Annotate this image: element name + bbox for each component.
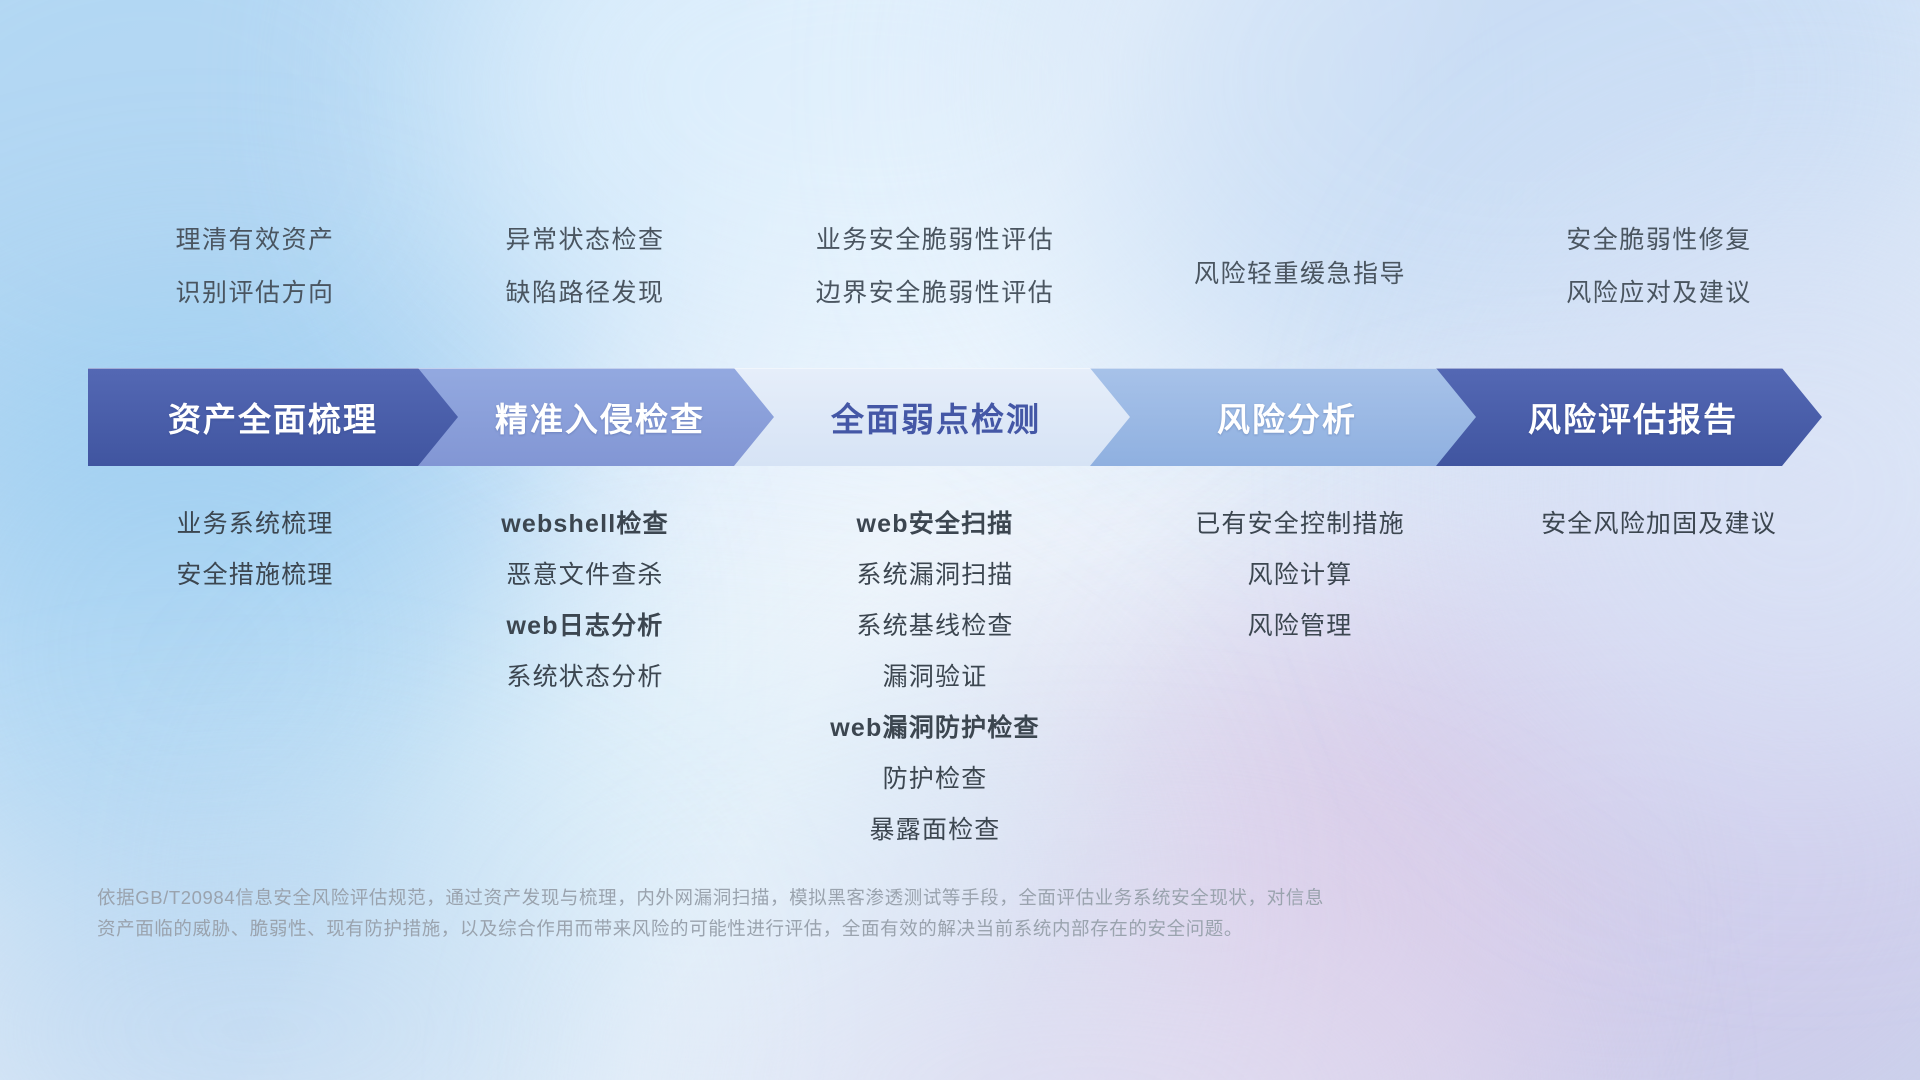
footer-line: 依据GB/T20984信息安全风险评估规范，通过资产发现与梳理，内外网漏洞扫描，… bbox=[97, 882, 1577, 913]
top-label: 识别评估方向 bbox=[175, 281, 334, 306]
bottom-list-item: 系统基线检查 bbox=[856, 614, 1013, 639]
chevron-label: 风险评估报告 bbox=[1528, 393, 1738, 441]
chevron-stage-1[interactable]: 资产全面梳理 bbox=[88, 368, 458, 466]
chevron-label: 全面弱点检测 bbox=[831, 393, 1041, 441]
bottom-list-item: webshell检查 bbox=[501, 512, 669, 537]
chevron-label: 资产全面梳理 bbox=[168, 393, 378, 441]
bottom-list-item: 系统状态分析 bbox=[506, 665, 663, 690]
top-labels-stage-3: 业务安全脆弱性评估 边界安全脆弱性评估 bbox=[750, 228, 1120, 334]
top-labels-stage-1: 理清有效资产 识别评估方向 bbox=[90, 228, 420, 334]
top-label: 风险轻重缓急指导 bbox=[1194, 262, 1406, 287]
top-labels-stage-5: 安全脆弱性修复 风险应对及建议 bbox=[1480, 228, 1838, 334]
bottom-list-item: 安全风险加固及建议 bbox=[1541, 512, 1777, 537]
bottom-list-item: 恶意文件查杀 bbox=[506, 563, 663, 588]
chevron-label: 精准入侵检查 bbox=[495, 393, 705, 441]
bottom-list-item: 业务系统梳理 bbox=[176, 512, 333, 537]
bottom-list-item: 漏洞验证 bbox=[883, 665, 988, 690]
bottom-list-item: web日志分析 bbox=[506, 614, 663, 639]
chevron-stage-3[interactable]: 全面弱点检测 bbox=[720, 368, 1130, 466]
bottom-list-item: 风险计算 bbox=[1248, 563, 1353, 588]
bottom-list-item: 暴露面检查 bbox=[869, 818, 1000, 843]
chevron-stage-4[interactable]: 风险分析 bbox=[1076, 368, 1476, 466]
top-labels-row: 理清有效资产 识别评估方向 异常状态检查 缺陷路径发现 业务安全脆弱性评估 边界… bbox=[90, 228, 1838, 328]
footer-description: 依据GB/T20984信息安全风险评估规范，通过资产发现与梳理，内外网漏洞扫描，… bbox=[97, 882, 1577, 944]
top-label: 业务安全脆弱性评估 bbox=[816, 228, 1055, 253]
bottom-list-stage-2: webshell检查恶意文件查杀web日志分析系统状态分析 bbox=[420, 512, 750, 716]
bottom-list-item: 风险管理 bbox=[1248, 614, 1353, 639]
chevron-stage-2[interactable]: 精准入侵检查 bbox=[404, 368, 774, 466]
bottom-list-stage-4: 已有安全控制措施风险计算风险管理 bbox=[1120, 512, 1480, 665]
bottom-list-stage-5: 安全风险加固及建议 bbox=[1480, 512, 1838, 563]
bottom-list-item: 安全措施梳理 bbox=[176, 563, 333, 588]
top-label: 理清有效资产 bbox=[175, 228, 334, 253]
process-chevron-banner: 资产全面梳理 精准入侵检查 全面弱点检测 风险分析 风险评估报告 bbox=[88, 368, 1838, 466]
top-label: 缺陷路径发现 bbox=[505, 281, 664, 306]
bottom-list-item: 系统漏洞扫描 bbox=[856, 563, 1013, 588]
footer-line: 资产面临的威胁、脆弱性、现有防护措施，以及综合作用而带来风险的可能性进行评估，全… bbox=[97, 913, 1577, 944]
top-label: 风险应对及建议 bbox=[1566, 281, 1752, 306]
bottom-list-stage-3: web安全扫描系统漏洞扫描系统基线检查漏洞验证web漏洞防护检查防护检查暴露面检… bbox=[750, 512, 1120, 869]
chevron-stage-5[interactable]: 风险评估报告 bbox=[1422, 368, 1822, 466]
top-labels-stage-4: 风险轻重缓急指导 bbox=[1120, 228, 1480, 315]
top-label: 安全脆弱性修复 bbox=[1566, 228, 1752, 253]
process-diagram: 理清有效资产 识别评估方向 异常状态检查 缺陷路径发现 业务安全脆弱性评估 边界… bbox=[0, 0, 1920, 1080]
bottom-list-item: 已有安全控制措施 bbox=[1195, 512, 1405, 537]
top-label: 边界安全脆弱性评估 bbox=[816, 281, 1055, 306]
chevron-label: 风险分析 bbox=[1217, 393, 1357, 441]
top-labels-stage-2: 异常状态检查 缺陷路径发现 bbox=[420, 228, 750, 334]
bottom-lists-row: 业务系统梳理安全措施梳理 webshell检查恶意文件查杀web日志分析系统状态… bbox=[90, 512, 1838, 869]
top-label: 异常状态检查 bbox=[505, 228, 664, 253]
bottom-list-item: web安全扫描 bbox=[856, 512, 1013, 537]
bottom-list-item: 防护检查 bbox=[883, 767, 988, 792]
bottom-list-stage-1: 业务系统梳理安全措施梳理 bbox=[90, 512, 420, 614]
bottom-list-item: web漏洞防护检查 bbox=[830, 716, 1039, 741]
